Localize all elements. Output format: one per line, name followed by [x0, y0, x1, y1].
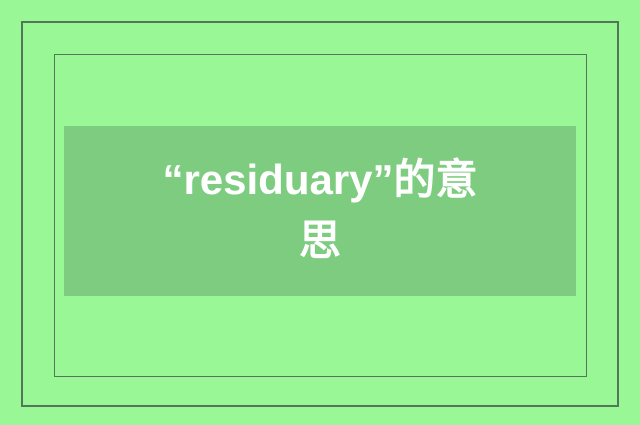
page-canvas: “residuary”的意思 [0, 0, 640, 425]
headline-text: “residuary”的意思 [156, 150, 484, 272]
content-panel: “residuary”的意思 [64, 126, 576, 296]
